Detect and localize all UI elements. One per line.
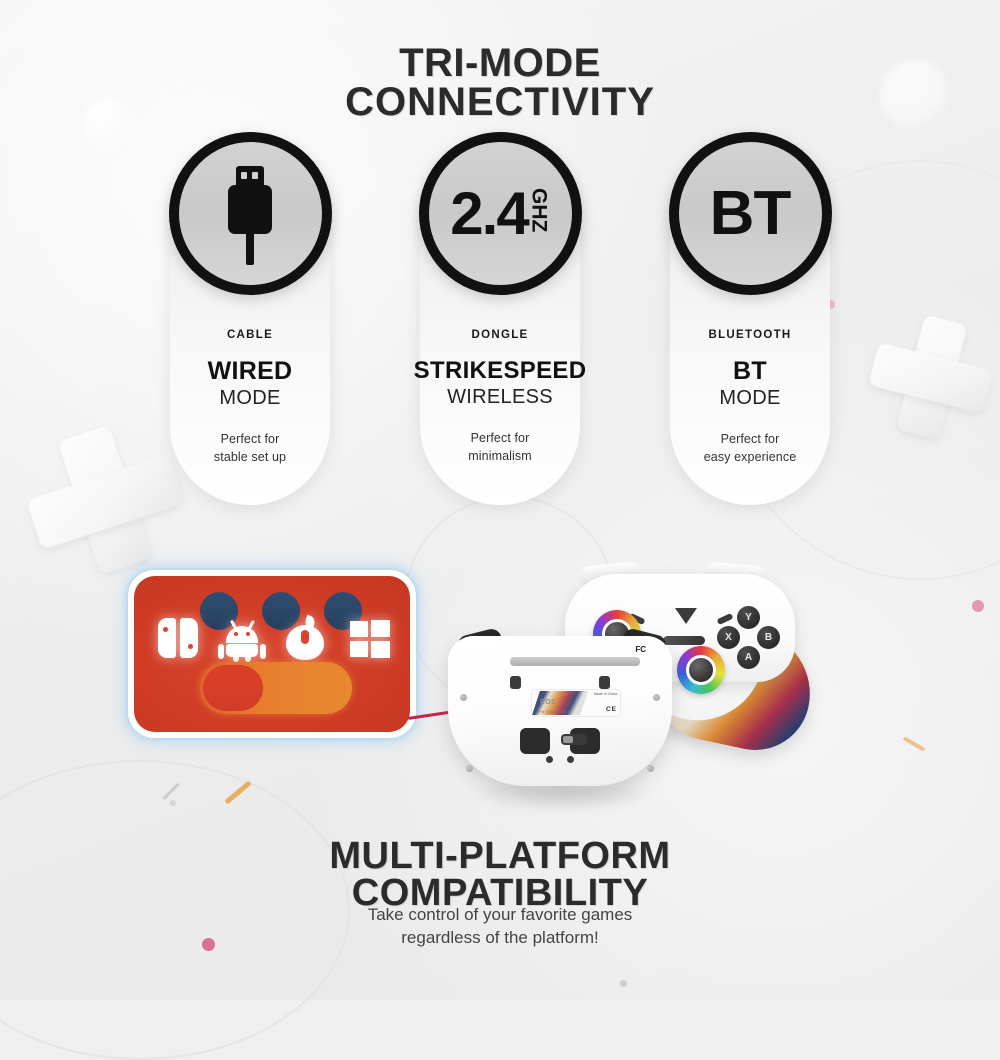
back-screw-br <box>647 765 654 772</box>
card-desc-line1: Perfect for <box>468 429 532 447</box>
apple-icon <box>286 616 324 660</box>
label-made-in: Made in China <box>594 692 617 696</box>
button-x: X <box>717 626 740 649</box>
card-mode-sub: MODE <box>219 386 280 410</box>
card-mode-main: BT <box>733 358 767 384</box>
back-hole-right <box>567 756 574 763</box>
card-kicker: CABLE <box>227 329 273 341</box>
usb-cable-icon <box>215 166 285 262</box>
card-description: Perfect for easy experience <box>704 430 797 466</box>
button-b: B <box>757 626 780 649</box>
windows-icon <box>350 620 390 658</box>
controller-back-view: EOS P/N 0150P0211015 Made in China CE FC <box>434 620 690 820</box>
accent-dash-orange-1 <box>224 780 252 804</box>
accent-dot-gray-2 <box>170 800 176 806</box>
platform-compatibility-panel[interactable] <box>128 570 416 738</box>
right-stick-cap <box>686 655 716 685</box>
accent-dash-gray-1 <box>162 783 180 801</box>
title-top-line2: CONNECTIVITY <box>0 83 1000 122</box>
accent-dash-orange-2 <box>903 736 926 751</box>
card-kicker: DONGLE <box>472 329 529 341</box>
card-description: Perfect for minimalism <box>468 429 532 465</box>
card-mode-main: STRIKESPEED <box>414 358 587 383</box>
android-icon <box>222 620 262 658</box>
toggle-knob <box>203 665 263 711</box>
back-hole-left <box>546 756 553 763</box>
badge-frequency-unit: GHZ <box>529 188 550 232</box>
connectivity-cards: CABLE WIRED MODE Perfect for stable set … <box>170 140 830 505</box>
platform-mode-toggle[interactable] <box>200 662 352 714</box>
card-mode-sub: MODE <box>719 386 780 410</box>
nintendo-switch-icon <box>158 618 198 658</box>
back-peg-right <box>599 676 610 689</box>
card-desc-line2: minimalism <box>468 447 532 465</box>
back-screw-tr <box>653 694 660 701</box>
label-brand: EOS <box>540 699 556 706</box>
accent-dot-pink-2 <box>972 600 984 612</box>
card-description: Perfect for stable set up <box>214 430 286 466</box>
badge-frequency-value: 2.4 <box>450 184 527 244</box>
label-ce-mark: CE <box>606 706 617 713</box>
page-title-bottom: MULTI-PLATFORM COMPATIBILITY <box>0 838 1000 912</box>
card-mode-main: WIRED <box>208 358 293 384</box>
subtitle-line2: regardless of the platform! <box>0 927 1000 950</box>
back-screw-tl <box>460 694 467 701</box>
start-button <box>716 613 733 625</box>
frequency-2-4-ghz-icon: 2.4 GHZ <box>450 184 549 244</box>
bluetooth-bt-icon: BT <box>710 183 791 245</box>
product-label: EOS P/N 0150P0211015 Made in China CE <box>532 690 620 716</box>
background-dpad-right <box>859 305 1000 448</box>
card-desc-line1: Perfect for <box>704 430 797 448</box>
badge-cable <box>169 132 332 295</box>
page-subtitle: Take control of your favorite games rega… <box>0 904 1000 950</box>
badge-bluetooth: BT <box>669 132 832 295</box>
title-bottom-line1: MULTI-PLATFORM <box>0 838 1000 875</box>
back-paddle-left <box>520 728 550 754</box>
title-top-line1: TRI-MODE <box>0 44 1000 83</box>
button-y: Y <box>737 606 760 629</box>
infographic-canvas: TRI-MODE CONNECTIVITY CABLE WIRED MODE P… <box>0 0 1000 1000</box>
card-dongle-mode[interactable]: 2.4 GHZ DONGLE STRIKESPEED WIRELESS Perf… <box>420 140 580 505</box>
badge-frequency: 2.4 GHZ <box>419 132 582 295</box>
subtitle-line1: Take control of your favorite games <box>0 904 1000 927</box>
mode-switch-toggle[interactable] <box>561 734 587 745</box>
card-kicker: BLUETOOTH <box>708 329 791 341</box>
platform-panel-inner <box>134 576 410 732</box>
controller-back-shell: EOS P/N 0150P0211015 Made in China CE FC <box>448 636 672 786</box>
back-peg-left <box>510 676 521 689</box>
card-wired-mode[interactable]: CABLE WIRED MODE Perfect for stable set … <box>170 140 330 505</box>
controller-back-topbar <box>510 657 640 666</box>
back-screw-bl <box>466 765 473 772</box>
accent-dot-gray-1 <box>620 980 627 987</box>
card-desc-line1: Perfect for <box>214 430 286 448</box>
card-desc-line2: easy experience <box>704 448 797 466</box>
label-part-number: P/N 0150P0211015 <box>538 710 572 714</box>
card-bluetooth-mode[interactable]: BT BLUETOOTH BT MODE Perfect for easy ex… <box>670 140 830 505</box>
card-mode-sub: WIRELESS <box>447 385 553 409</box>
page-title-top: TRI-MODE CONNECTIVITY <box>0 44 1000 122</box>
label-fcc-mark: FC <box>635 645 646 654</box>
card-desc-line2: stable set up <box>214 448 286 466</box>
button-a: A <box>737 646 760 669</box>
